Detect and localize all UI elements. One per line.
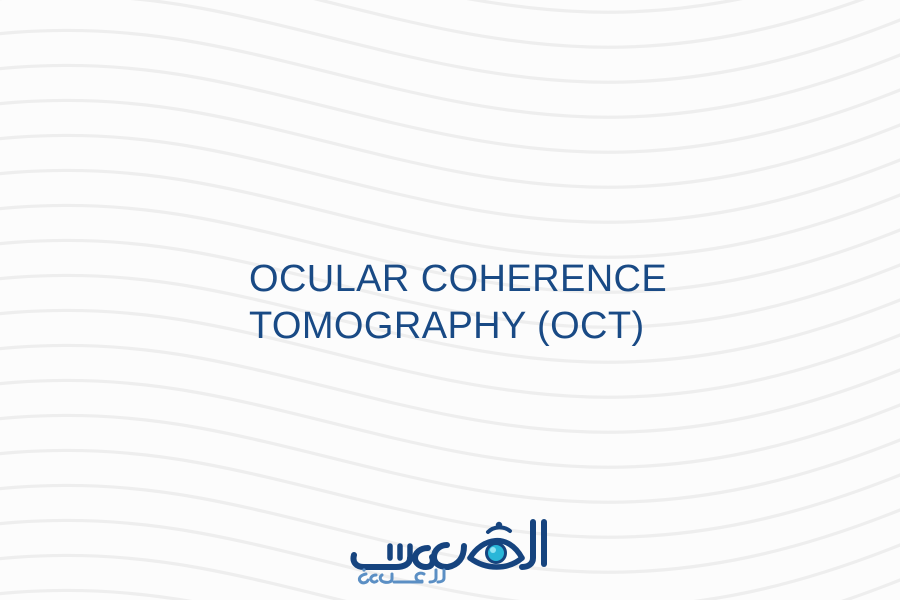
logo-iris-icon [487,544,506,563]
clinic-logo [348,512,552,588]
page-title: OCULAR COHERENCE TOMOGRAPHY (OCT) [249,256,769,350]
logo-tagline-arabic [359,568,444,582]
page-title-line-2: TOMOGRAPHY (OCT) [249,303,769,350]
logo-wordmark-arabic [353,522,544,567]
page-canvas: OCULAR COHERENCE TOMOGRAPHY (OCT) [0,0,900,600]
page-title-line-1: OCULAR COHERENCE [249,256,769,303]
